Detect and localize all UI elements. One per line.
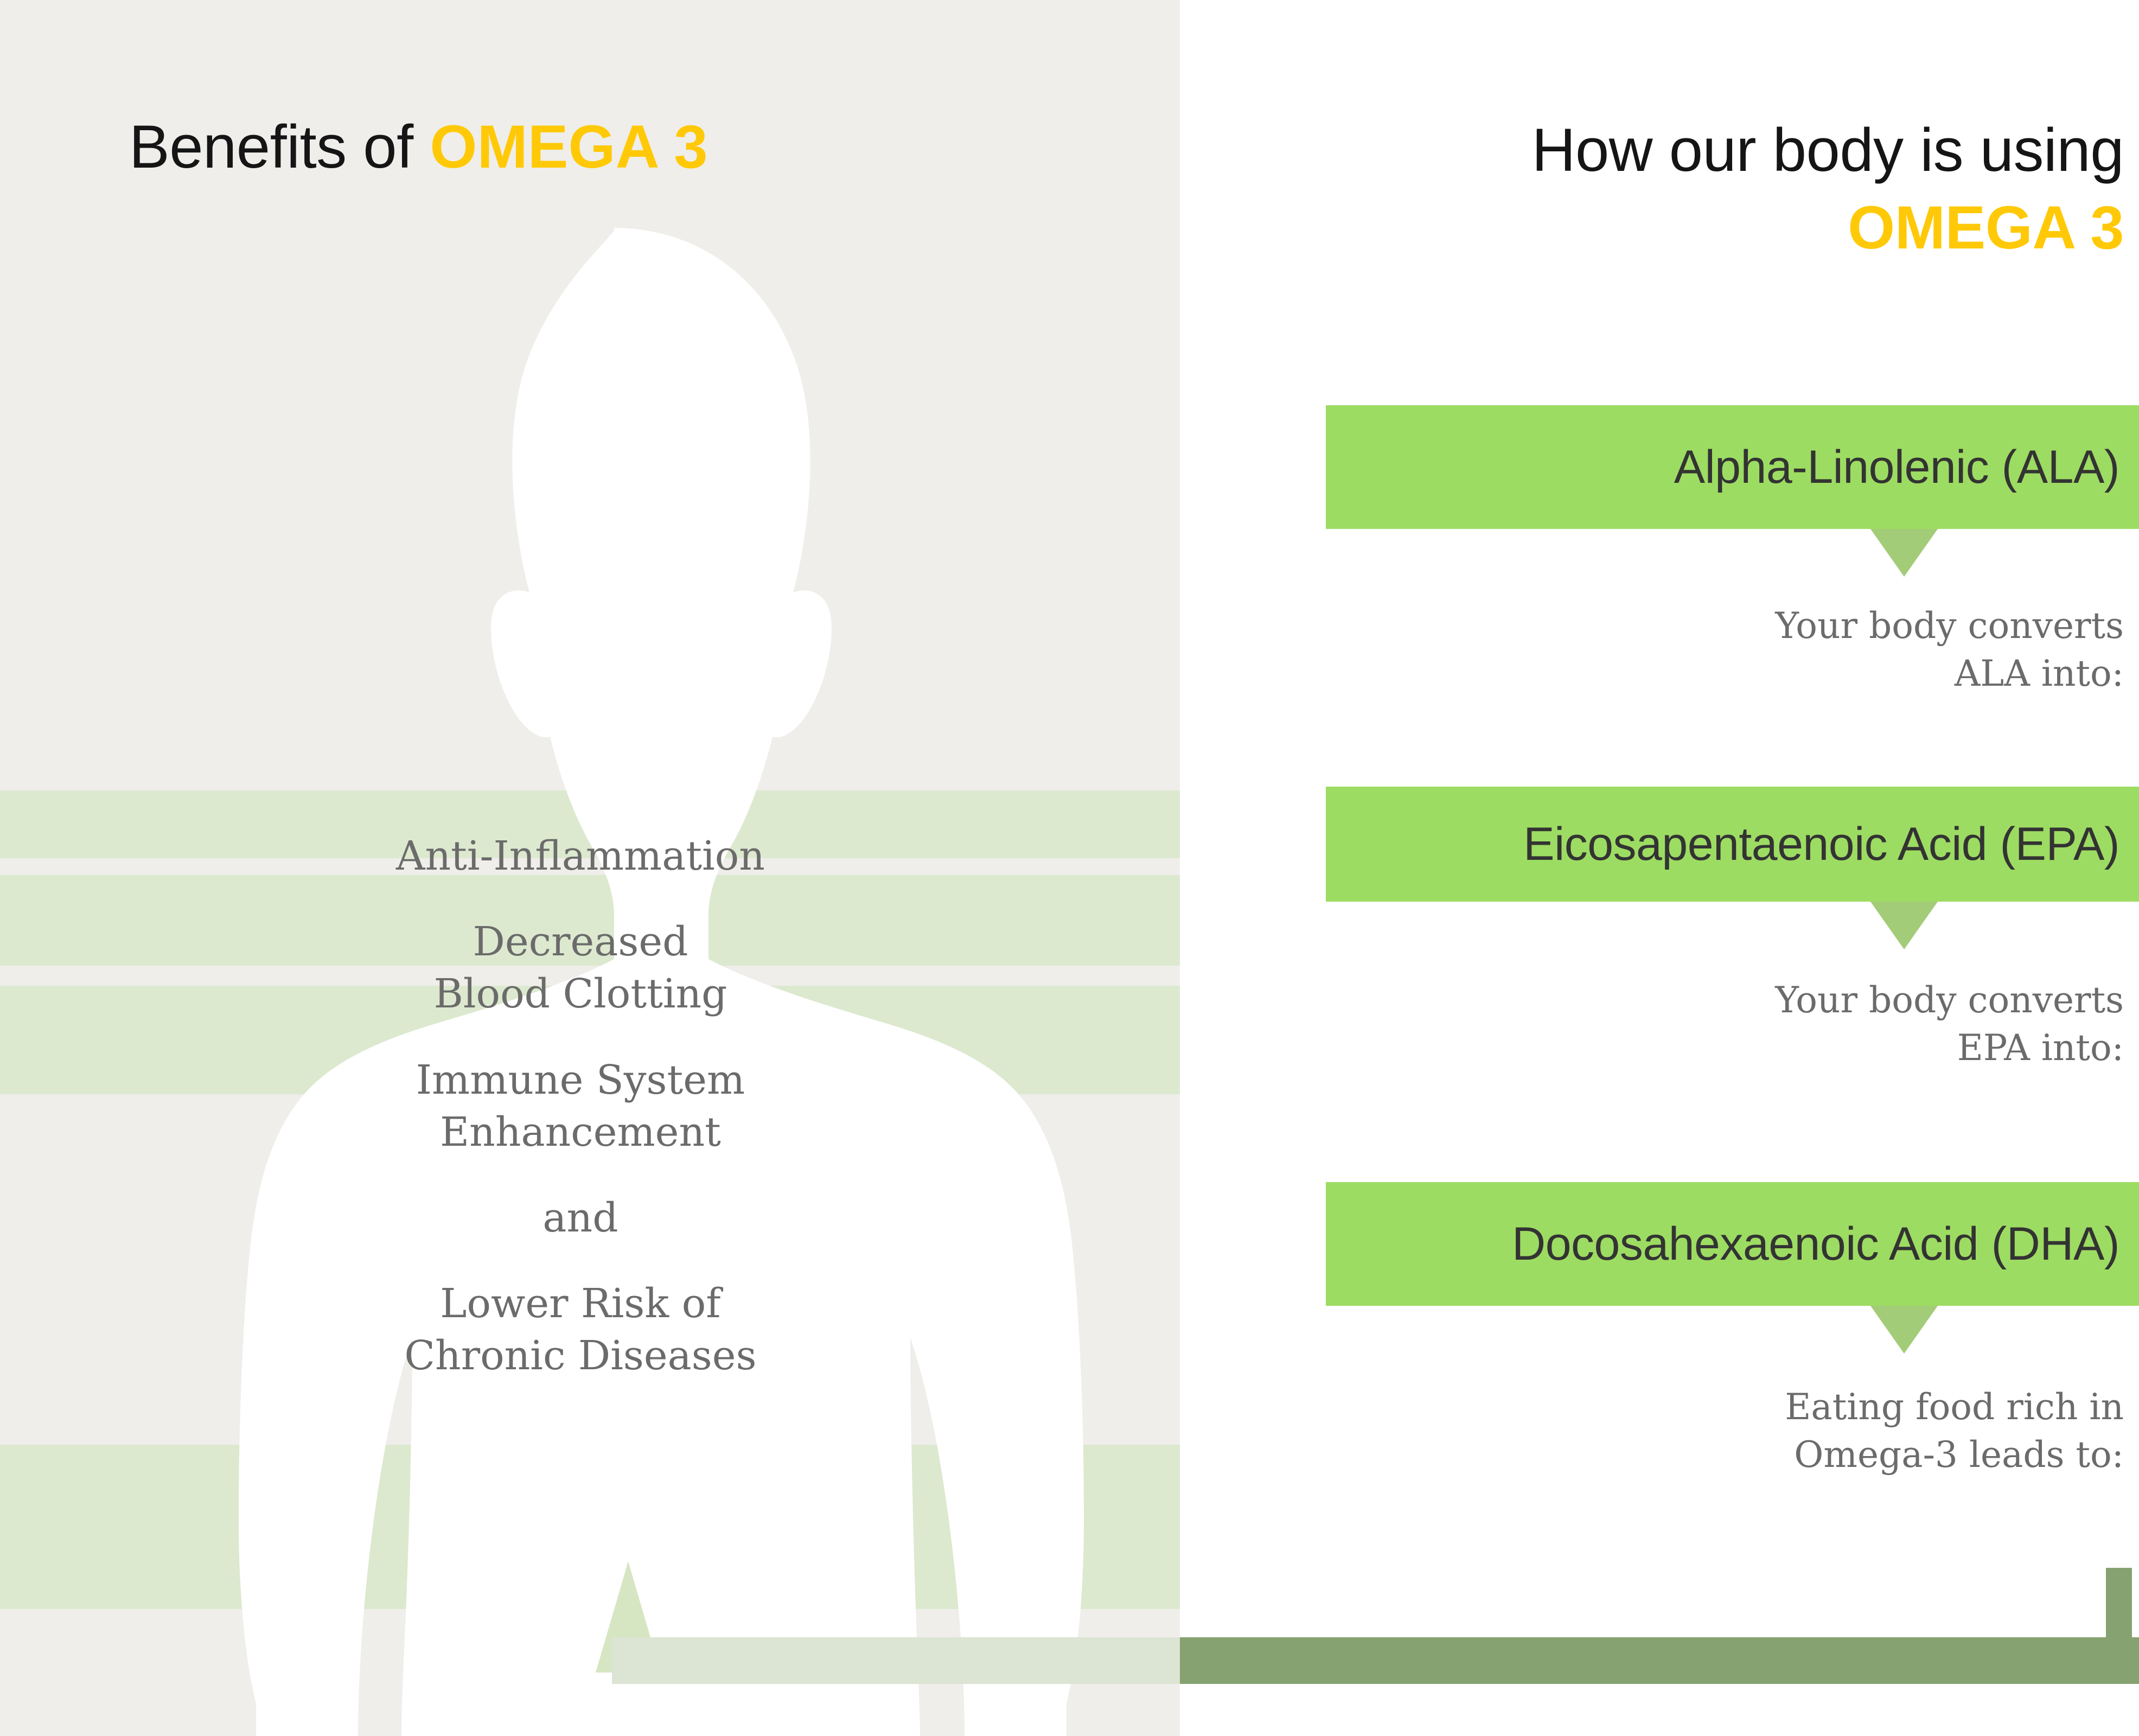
benefit-item-1: Anti-Inflammation — [293, 830, 868, 882]
benefit-item-5: Lower Risk of Chronic Diseases — [293, 1278, 868, 1382]
step-note-ala: Your body converts ALA into: — [1775, 602, 2124, 698]
left-title-accent: OMEGA 3 — [430, 113, 707, 181]
benefit-item-2: Decreased Blood Clotting — [293, 916, 868, 1020]
step-box-epa-label: Eicosapentaenoic Acid (EPA) — [1523, 818, 2139, 871]
arrow-down-icon-1 — [1870, 529, 1938, 577]
bottom-bar-right-stub — [2106, 1568, 2132, 1641]
left-title: Benefits of OMEGA 3 — [129, 117, 708, 177]
benefits-list: Anti-Inflammation Decreased Blood Clotti… — [293, 830, 868, 1382]
infographic-canvas: Benefits of OMEGA 3 Anti-Inflammation De… — [0, 0, 2139, 1736]
right-title-line1: How our body is using — [1532, 116, 2124, 184]
left-title-plain: Benefits of — [129, 113, 430, 181]
step-note-dha: Eating food rich in Omega-3 leads to: — [1785, 1383, 2124, 1479]
benefit-item-3: Immune System Enhancement — [293, 1054, 868, 1158]
step-note-epa: Your body converts EPA into: — [1775, 976, 2124, 1072]
bottom-bar-dark — [1180, 1637, 2139, 1684]
step-box-ala[interactable]: Alpha-Linolenic (ALA) — [1326, 405, 2139, 529]
step-box-dha-label: Docosahexaenoic Acid (DHA) — [1512, 1217, 2139, 1271]
arrow-down-icon-3 — [1870, 1306, 1938, 1354]
step-box-ala-label: Alpha-Linolenic (ALA) — [1674, 441, 2139, 494]
step-box-dha[interactable]: Docosahexaenoic Acid (DHA) — [1326, 1182, 2139, 1306]
right-title: How our body is using OMEGA 3 — [1532, 111, 2124, 267]
benefit-item-4: and — [293, 1192, 868, 1244]
bottom-bar-light — [612, 1637, 1187, 1684]
right-title-line2: OMEGA 3 — [1532, 189, 2124, 266]
arrow-down-icon-2 — [1870, 902, 1938, 949]
step-box-epa[interactable]: Eicosapentaenoic Acid (EPA) — [1326, 787, 2139, 902]
